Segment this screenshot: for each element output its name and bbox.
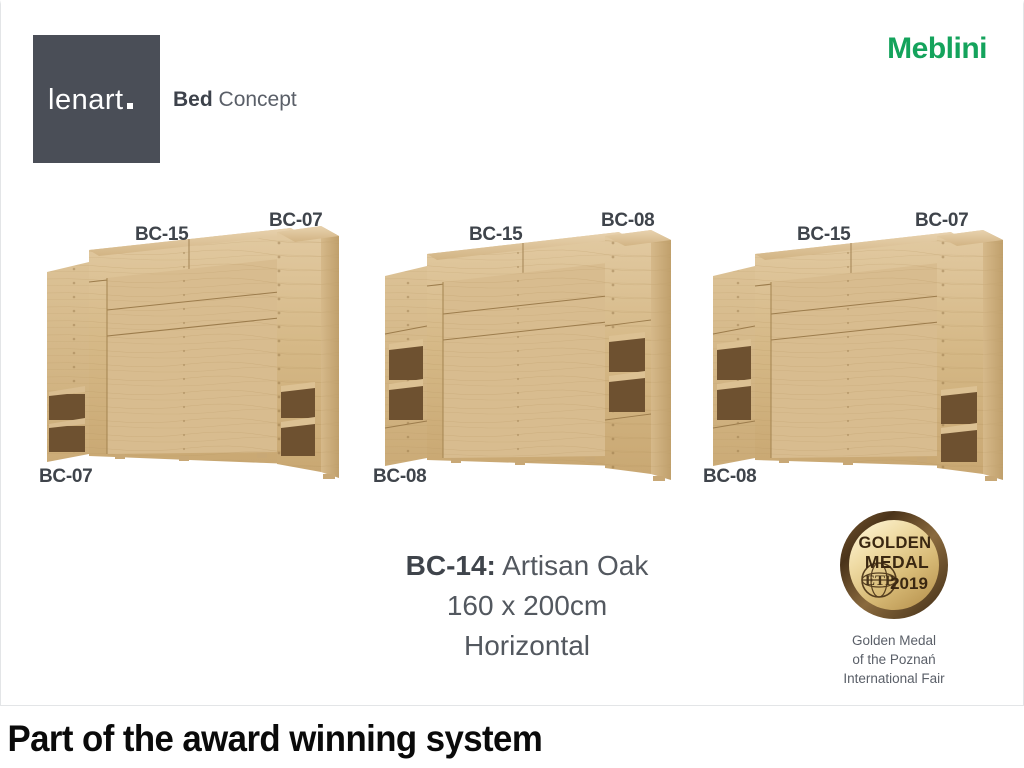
banner-headline: Part of the award winning system: [0, 718, 542, 760]
configuration-1-illustration: [29, 206, 359, 496]
award-caption-line-2: of the Poznań: [799, 650, 989, 669]
caption-line-size: 160 x 200cm: [267, 586, 787, 626]
product-caption: BC-14: Artisan Oak 160 x 200cm Horizonta…: [267, 546, 787, 665]
configuration-3-tag-top-mid: BC-15: [797, 224, 850, 246]
product-line-bold: Bed: [173, 88, 213, 111]
photo-area: lenart Bed Concept Meblini: [0, 0, 1024, 706]
configuration-3-tag-top-right: BC-07: [915, 210, 968, 232]
lenart-wordmark: lenart: [48, 86, 133, 115]
configuration-3-illustration: [693, 206, 1023, 496]
caption-line-orientation: Horizontal: [267, 626, 787, 666]
caption-model-finish: Artisan Oak: [496, 550, 649, 581]
configuration-1: BC-15 BC-07 BC-07: [29, 206, 359, 496]
caption-model-code: BC-14:: [406, 550, 496, 581]
bottom-banner: Part of the award winning system: [0, 710, 1024, 768]
award-badge: ETP GOLDEN MEDAL 2019 Golden Medal of th…: [799, 510, 989, 688]
configuration-2: BC-15 BC-08 BC-08: [363, 206, 693, 496]
configurations-row: BC-15 BC-07 BC-07: [7, 206, 1024, 496]
meblini-logo: Meblini: [887, 34, 987, 64]
award-caption-line-3: International Fair: [799, 669, 989, 688]
golden-medal-svg: ETP GOLDEN MEDAL 2019: [839, 510, 949, 620]
configuration-2-tag-top-right: BC-08: [601, 210, 654, 232]
configuration-2-tag-bottom-left: BC-08: [373, 466, 426, 488]
medal-year: 2019: [890, 574, 928, 593]
product-line-title: Bed Concept: [173, 88, 297, 112]
configuration-1-tag-bottom-left: BC-07: [39, 466, 92, 488]
award-caption-line-1: Golden Medal: [799, 631, 989, 650]
configuration-1-tag-top-right: BC-07: [269, 210, 322, 232]
medal-line-mid: MEDAL: [865, 552, 929, 572]
product-line-light: Concept: [219, 88, 297, 111]
configuration-2-illustration: [363, 206, 693, 496]
configuration-3: BC-15 BC-07 BC-08: [693, 206, 1023, 496]
photo-inner: lenart Bed Concept Meblini: [7, 10, 1017, 701]
golden-medal-icon: ETP GOLDEN MEDAL 2019: [839, 510, 949, 620]
caption-line-model: BC-14: Artisan Oak: [267, 546, 787, 586]
award-caption: Golden Medal of the Poznań International…: [799, 631, 989, 688]
configuration-1-tag-top-mid: BC-15: [135, 224, 188, 246]
product-sheet: lenart Bed Concept Meblini: [0, 0, 1024, 768]
configuration-2-tag-top-mid: BC-15: [469, 224, 522, 246]
configuration-3-tag-bottom-left: BC-08: [703, 466, 756, 488]
logo-dot-icon: [127, 103, 133, 109]
lenart-logo-block: lenart: [33, 35, 160, 163]
medal-line-top: GOLDEN: [859, 534, 932, 552]
